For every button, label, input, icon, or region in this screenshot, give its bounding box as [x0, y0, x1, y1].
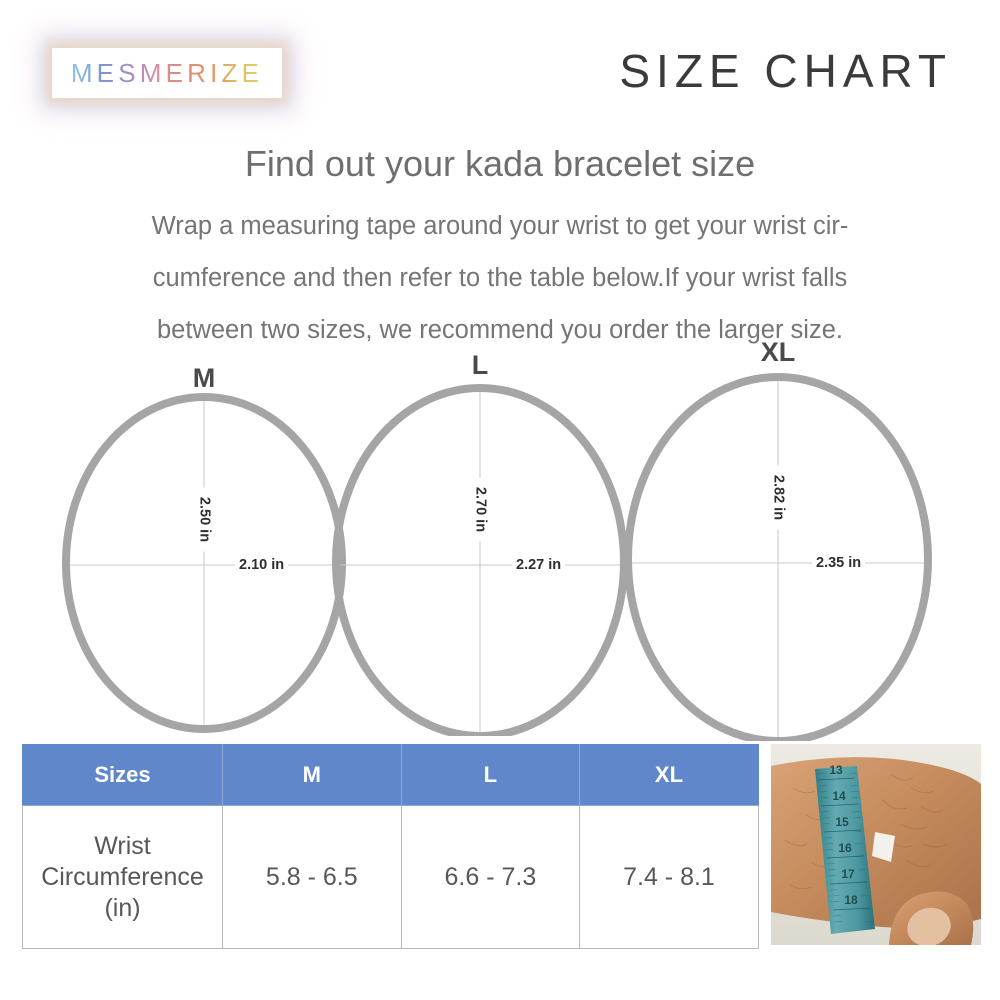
bangle-size-label: M: [60, 363, 348, 393]
size-chart-table: Sizes M L XL Wrist Circumference (in) 5.…: [22, 744, 759, 949]
table-header-cell-sizes: Sizes: [23, 745, 223, 806]
bangle-diagram-row: M 2.50 in 2.10 in L 2.70 in 2.27 in XL 2…: [0, 345, 1000, 745]
page-header: MESMERIZE SIZE CHART: [0, 0, 1000, 130]
row-label-line: (in): [104, 894, 140, 922]
bangle-diagram-m: M 2.50 in 2.10 in: [60, 345, 348, 745]
intro-paragraph: Wrap a measuring tape around your wrist …: [0, 200, 1000, 356]
bangle-size-label: L: [330, 350, 630, 380]
intro-paragraph-line: Wrap a measuring tape around your wrist …: [48, 200, 952, 252]
bangle-width-dimension: 2.35 in: [812, 555, 865, 572]
bangle-width-dimension: 2.10 in: [235, 557, 288, 574]
intro-section: Find out your kada bracelet size Wrap a …: [0, 140, 1000, 356]
bangle-oval-m: [60, 393, 348, 733]
tape-number: 13: [829, 763, 843, 777]
row-label-line: Circumference: [41, 863, 204, 891]
intro-paragraph-line: cumference and then refer to the table b…: [48, 252, 952, 304]
bangle-height-dimension: 2.50 in: [192, 488, 217, 552]
table-header-cell-xl: XL: [580, 745, 759, 806]
row-label-line: Wrist: [94, 832, 150, 860]
bangle-oval-l: [330, 380, 630, 736]
tape-number: 17: [841, 867, 855, 881]
tape-number: 18: [844, 893, 858, 907]
bangle-diagram-xl: XL 2.82 in 2.35 in: [622, 345, 934, 745]
tape-number: 16: [838, 841, 852, 855]
bangle-oval-xl: [622, 369, 934, 741]
wrist-measuring-photo: 13 14 15 16 17 18: [771, 744, 981, 945]
table-cell-l: 6.6 - 7.3: [401, 806, 580, 949]
bangle-width-dimension: 2.27 in: [512, 557, 565, 574]
table-header-row: Sizes M L XL: [23, 745, 759, 806]
bangle-size-label: XL: [622, 337, 934, 367]
table-cell-m: 5.8 - 6.5: [223, 806, 402, 949]
table-header-cell-m: M: [223, 745, 402, 806]
table-cell-xl: 7.4 - 8.1: [580, 806, 759, 949]
tape-number: 15: [835, 815, 849, 829]
bangle-diagram-l: L 2.70 in 2.27 in: [330, 345, 630, 745]
table-row-label: Wrist Circumference (in): [23, 806, 223, 949]
brand-logo-text: MESMERIZE: [71, 58, 263, 89]
bangle-height-dimension: 2.82 in: [766, 466, 791, 530]
intro-heading: Find out your kada bracelet size: [0, 140, 1000, 188]
tape-number: 14: [832, 789, 846, 803]
page-title: SIZE CHART: [619, 44, 952, 98]
table-header-cell-l: L: [401, 745, 580, 806]
brand-logo: MESMERIZE: [52, 48, 282, 98]
bangle-height-dimension: 2.70 in: [468, 478, 493, 542]
table-row: Wrist Circumference (in) 5.8 - 6.5 6.6 -…: [23, 806, 759, 949]
